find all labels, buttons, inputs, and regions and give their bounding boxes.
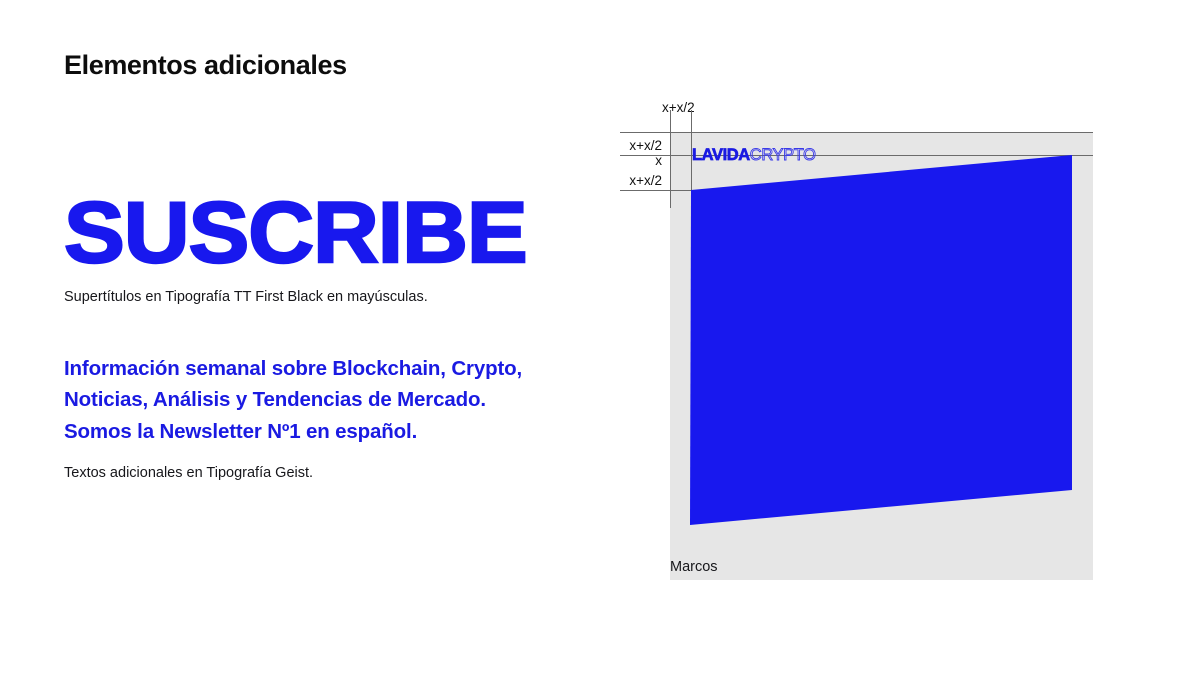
supertitle-sample-text: SUSCRIBE — [64, 196, 615, 272]
typography-specimen-column: SUSCRIBE Supertítulos en Tipografía TT F… — [64, 196, 584, 483]
brand-logo-bold-part: LAVIDA — [692, 146, 750, 164]
supertitle-caption: Supertítulos en Tipografía TT First Blac… — [64, 288, 584, 308]
body-sample-line-2: Noticias, Análisis y Tendencias de Merca… — [64, 384, 584, 415]
body-sample-text: Información semanal sobre Blockchain, Cr… — [64, 353, 584, 446]
body-caption: Textos adicionales en Tipografía Geist. — [64, 464, 584, 484]
brand-logo: LAVIDACRYPTO — [692, 147, 816, 164]
brand-logo-light-part: CRYPTO — [750, 146, 816, 164]
body-sample-line-3: Somos la Newsletter Nº1 en español. — [64, 416, 584, 447]
diagram-caption: Marcos — [670, 559, 718, 575]
page-title: Elementos adicionales — [64, 50, 347, 81]
blue-content-quadrilateral — [600, 92, 1120, 592]
body-sample-line-1: Información semanal sobre Blockchain, Cr… — [64, 353, 584, 384]
frame-construction-diagram: x+x/2 x+x/2 x x+x/2 LAVIDACRYPTO Marcos — [600, 92, 1120, 592]
